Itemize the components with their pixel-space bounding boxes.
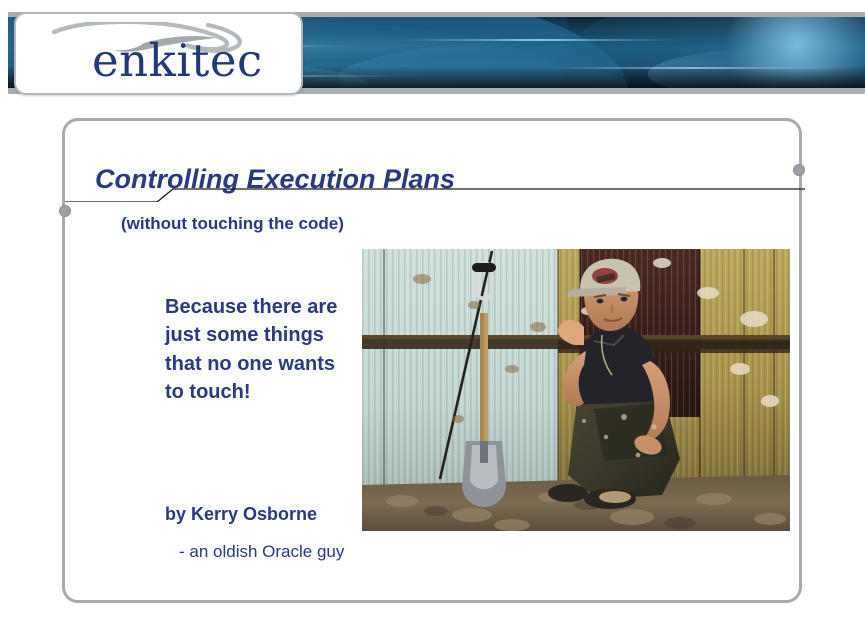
page-title: Controlling Execution Plans xyxy=(95,164,455,195)
slide-content-box: Controlling Execution Plans (without tou… xyxy=(62,118,802,603)
author-subtitle: - an oldish Oracle guy xyxy=(179,542,344,562)
connector-node-left[interactable] xyxy=(59,205,71,217)
man-with-shovel-photo xyxy=(362,249,790,531)
connector-node-right[interactable] xyxy=(793,164,805,176)
photo-content xyxy=(362,249,790,531)
wave-streak xyxy=(388,39,688,41)
author-byline: by Kerry Osborne xyxy=(165,504,317,525)
tagline-text: Because there are just some things that … xyxy=(165,293,355,407)
enkitec-wordmark: enkitec xyxy=(92,38,263,83)
page-subtitle: (without touching the code) xyxy=(121,214,344,234)
enkitec-logo: enkitec xyxy=(38,22,288,92)
logo-plate: enkitec xyxy=(14,12,303,95)
slide-header: enkitec xyxy=(0,0,865,103)
